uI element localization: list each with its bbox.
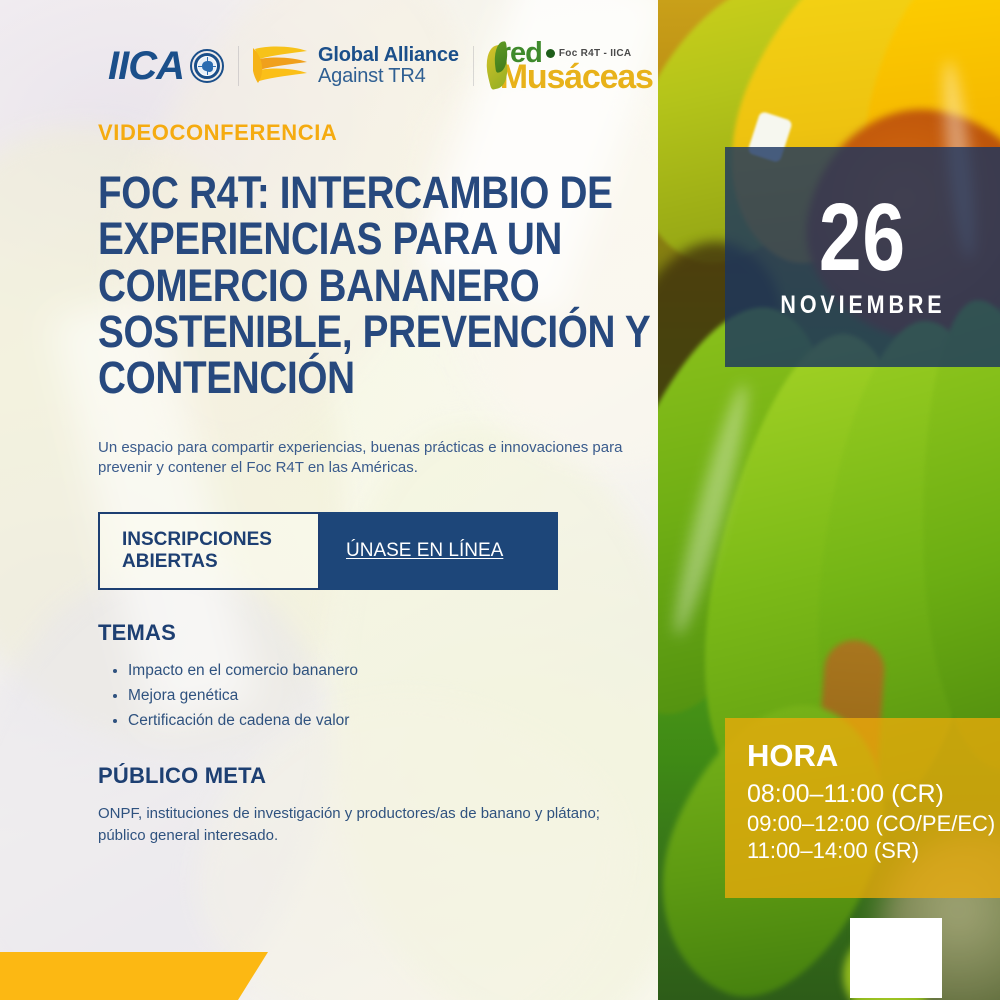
iica-logo: IICA bbox=[108, 46, 224, 86]
global-alliance-logo: Global Alliance Against TR4 bbox=[253, 43, 459, 89]
logo-divider bbox=[473, 46, 474, 86]
topics-heading: TEMAS bbox=[98, 620, 658, 646]
registration-status-badge: INSCRIPCIONES ABIERTAS bbox=[98, 512, 320, 590]
logo-divider bbox=[238, 46, 239, 86]
date-badge: 26 NOVIEMBRE bbox=[725, 147, 1000, 367]
join-online-link[interactable]: ÚNASE EN LÍNEA bbox=[346, 540, 503, 562]
date-month: NOVIEMBRE bbox=[780, 291, 945, 320]
logo-row: IICA Global Alliance Against TR4 bbox=[108, 36, 653, 96]
date-day: 26 bbox=[819, 194, 906, 282]
audience-heading: PÚBLICO META bbox=[98, 763, 658, 789]
time-secondary: 09:00–12:00 (CO/PE/EC) bbox=[747, 810, 1000, 837]
red-musaceas-tagline: Foc R4T - IICA bbox=[559, 48, 632, 59]
registration-status-label: INSCRIPCIONES ABIERTAS bbox=[122, 529, 318, 574]
event-type-kicker: VIDEOCONFERENCIA bbox=[98, 120, 658, 146]
green-dot-icon bbox=[546, 49, 555, 58]
event-description: Un espacio para compartir experiencias, … bbox=[98, 438, 648, 479]
global-alliance-line1: Global Alliance bbox=[318, 45, 459, 66]
iica-wordmark: IICA bbox=[108, 46, 184, 86]
join-online-button[interactable]: ÚNASE EN LÍNEA bbox=[320, 512, 558, 590]
time-primary: 08:00–11:00 (CR) bbox=[747, 780, 1000, 810]
qr-code-icon[interactable] bbox=[850, 918, 942, 998]
registration-strip: INSCRIPCIONES ABIERTAS ÚNASE EN LÍNEA bbox=[98, 512, 558, 590]
main-content: VIDEOCONFERENCIA FOC R4T: INTERCAMBIO DE… bbox=[98, 120, 658, 846]
poster-root: IICA Global Alliance Against TR4 bbox=[0, 0, 1000, 1000]
topics-list: Impacto en el comercio bananero Mejora g… bbox=[98, 658, 658, 733]
list-item: Impacto en el comercio bananero bbox=[128, 658, 658, 683]
list-item: Mejora genética bbox=[128, 683, 658, 708]
banana-swoosh-icon bbox=[253, 43, 309, 89]
red-musaceas-wordmark: Musáceas bbox=[500, 63, 653, 92]
time-secondary: 11:00–14:00 (SR) bbox=[747, 837, 1000, 864]
list-item: Certificación de cadena de valor bbox=[128, 708, 658, 733]
audience-text: ONPF, instituciones de investigación y p… bbox=[98, 803, 618, 846]
time-box: HORA 08:00–11:00 (CR) 09:00–12:00 (CO/PE… bbox=[725, 718, 1000, 898]
globe-seal-icon bbox=[190, 49, 224, 83]
red-musaceas-logo: red Foc R4T - IICA Musáceas bbox=[488, 40, 653, 92]
global-alliance-line2: Against TR4 bbox=[318, 66, 459, 87]
page-title: FOC R4T: INTERCAMBIO DE EXPERIENCIAS PAR… bbox=[98, 170, 657, 402]
time-heading: HORA bbox=[747, 740, 1000, 771]
